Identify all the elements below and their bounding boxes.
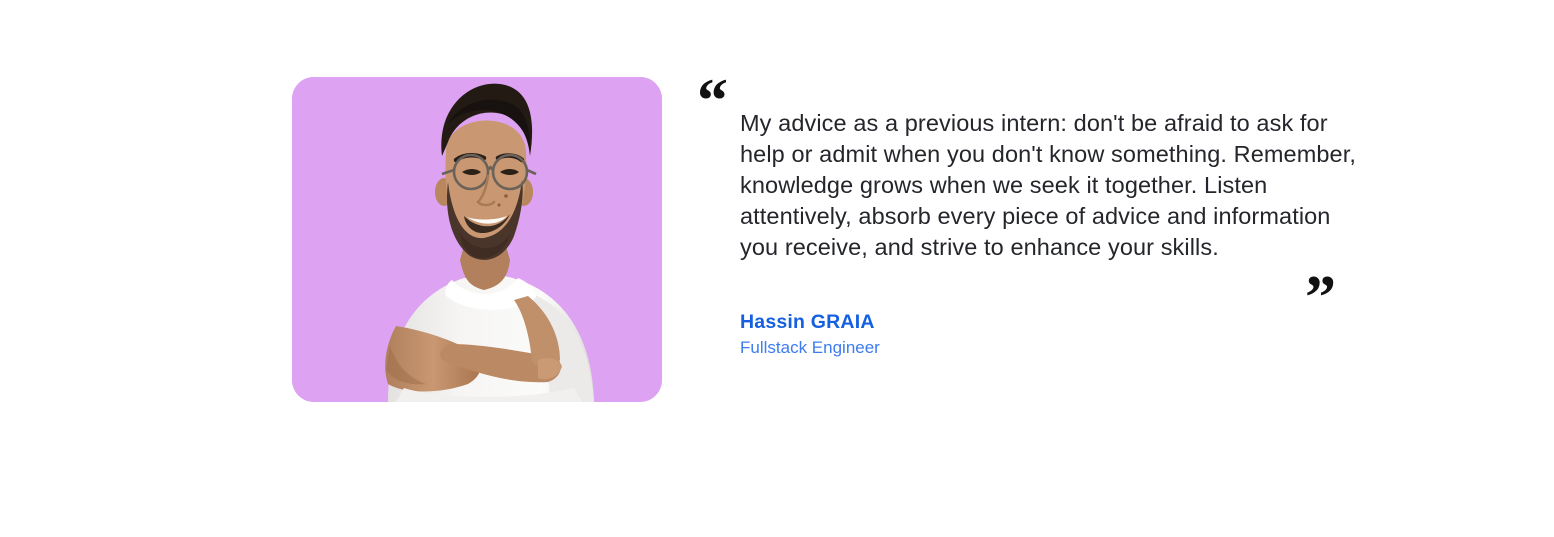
quote-open-mark: “ [697, 78, 726, 124]
testimonial-card: “ My advice as a previous intern: don't … [0, 0, 1554, 537]
author-role: Fullstack Engineer [740, 337, 1260, 359]
portrait-illustration [292, 64, 662, 402]
attribution: Hassin GRAIA Fullstack Engineer [740, 310, 1260, 359]
quote-close-mark: ” [1305, 275, 1334, 321]
author-name: Hassin GRAIA [740, 310, 1260, 334]
portrait-photo [292, 64, 662, 402]
quote-text: My advice as a previous intern: don't be… [740, 108, 1372, 263]
